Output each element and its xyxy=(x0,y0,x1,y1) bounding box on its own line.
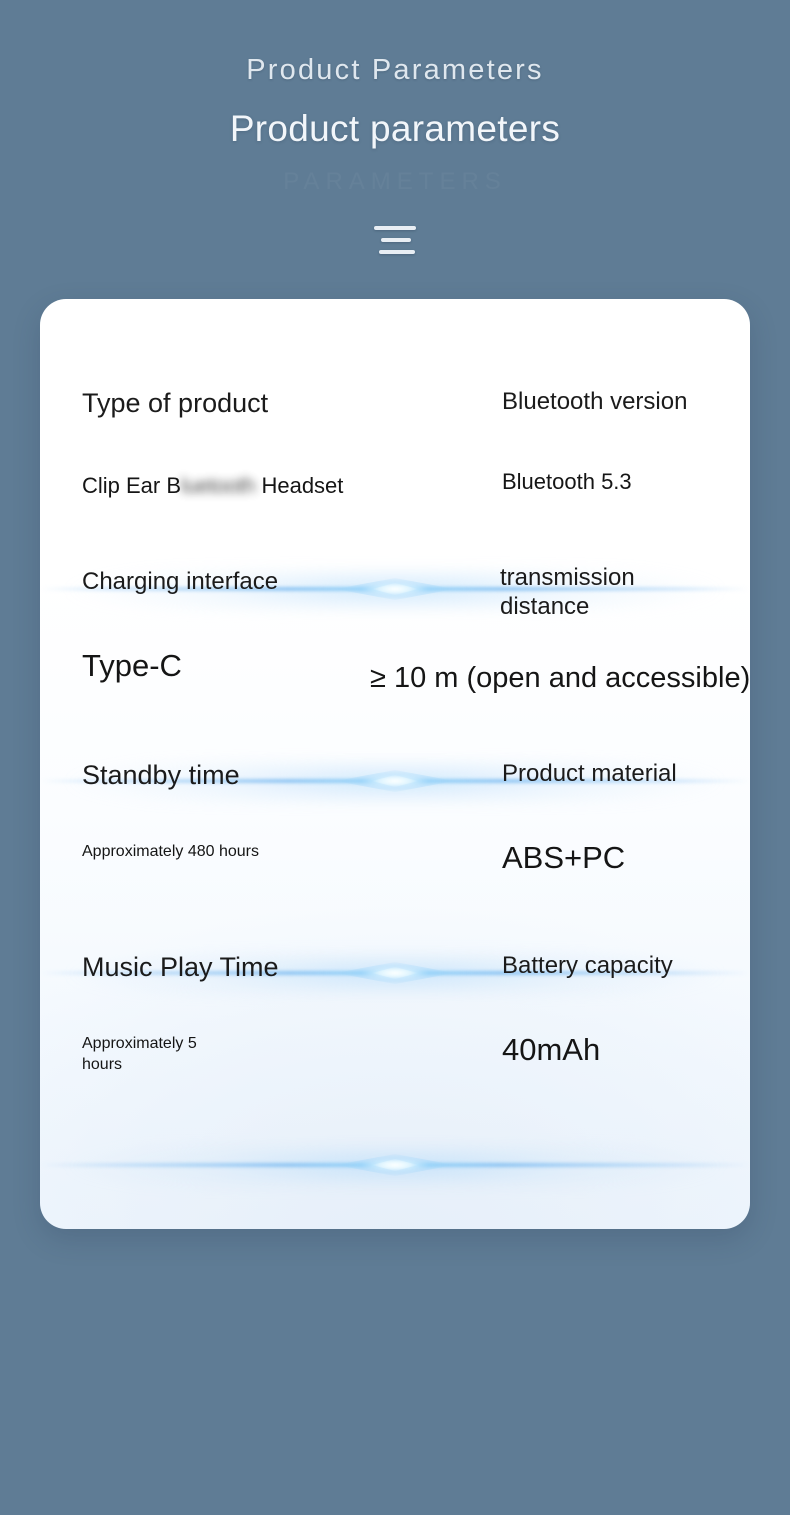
page-subtitle: Product parameters xyxy=(0,106,790,152)
param-value: Bluetooth 5.3 xyxy=(502,468,750,497)
param-cell-battery-capacity: Battery capacity 40mAh xyxy=(502,951,750,1071)
param-cell-transmission-distance: transmission distance ≥ 10 m (open and a… xyxy=(370,567,740,697)
param-value: Clip Ear Bluetooth Headset xyxy=(82,472,382,501)
parameters-rows: Type of product Clip Ear Bluetooth Heads… xyxy=(40,375,750,1143)
separator-beam xyxy=(40,1163,750,1167)
param-label: Type of product xyxy=(82,387,382,420)
separator-haze xyxy=(40,1145,750,1187)
param-value: Approximately 480 hours xyxy=(82,842,382,863)
align-line-top xyxy=(374,226,416,230)
page-header: Product Parameters Product parameters xyxy=(0,0,790,153)
table-row: Music Play Time Approximately 5 hours Ba… xyxy=(40,951,750,1143)
param-cell-standby-time: Standby time Approximately 480 hours xyxy=(82,759,382,863)
param-value-redacted: luetooth xyxy=(181,472,255,501)
product-parameters-page: Product Parameters Product parameters PA… xyxy=(0,0,790,1515)
param-label: Bluetooth version xyxy=(502,387,750,416)
param-cell-bluetooth-version: Bluetooth version Bluetooth 5.3 xyxy=(502,375,750,497)
align-line-middle xyxy=(381,238,411,242)
param-label: transmission distance xyxy=(370,563,740,622)
param-label: Charging interface xyxy=(82,567,382,596)
param-cell-type-of-product: Type of product Clip Ear Bluetooth Heads… xyxy=(82,375,382,501)
param-cell-charging-interface: Charging interface Type-C xyxy=(82,567,382,687)
parameters-card: Type of product Clip Ear Bluetooth Heads… xyxy=(40,299,750,1229)
param-value-suffix: Headset xyxy=(255,473,343,498)
param-label: Product material xyxy=(502,759,750,788)
page-title: Product Parameters xyxy=(0,52,790,88)
param-value: 40mAh xyxy=(502,1030,750,1070)
table-row: Type of product Clip Ear Bluetooth Heads… xyxy=(40,375,750,567)
table-row: Standby time Approximately 480 hours Pro… xyxy=(40,759,750,951)
param-label: Music Play Time xyxy=(82,951,382,984)
param-value: ≥ 10 m (open and accessible) xyxy=(370,660,740,698)
param-cell-music-play-time: Music Play Time Approximately 5 hours xyxy=(82,951,382,1076)
param-label: Standby time xyxy=(82,759,382,792)
ghost-watermark-text: PARAMETERS xyxy=(0,168,790,196)
param-cell-product-material: Product material ABS+PC xyxy=(502,759,750,879)
separator-flare xyxy=(335,1154,455,1176)
param-value-prefix: Clip Ear B xyxy=(82,473,181,498)
param-value: ABS+PC xyxy=(502,838,750,878)
align-lines-icon xyxy=(373,224,417,256)
table-row: Charging interface Type-C transmission d… xyxy=(40,567,750,759)
align-line-bottom xyxy=(379,250,415,254)
separator-flare-core xyxy=(372,1159,418,1171)
param-value: Type-C xyxy=(82,646,382,686)
param-value: Approximately 5 hours xyxy=(82,1034,382,1076)
param-label: Battery capacity xyxy=(502,951,750,980)
